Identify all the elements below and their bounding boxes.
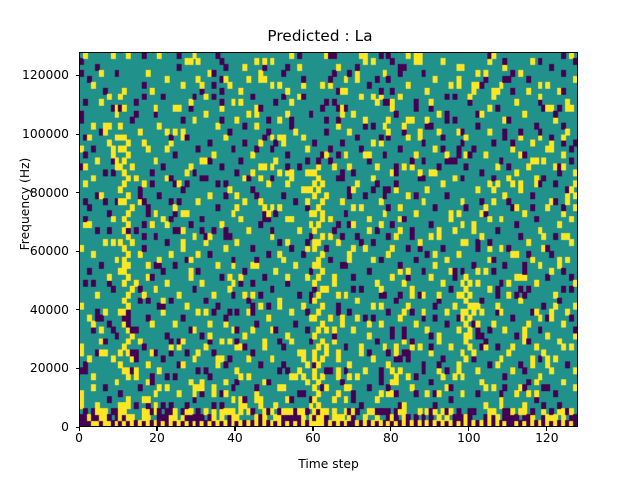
y-tick-label: 100000 bbox=[5, 128, 69, 140]
y-tick-label: 60000 bbox=[5, 245, 69, 257]
x-tick-mark bbox=[390, 427, 391, 431]
x-tick-mark bbox=[79, 427, 80, 431]
page-title: Predicted : La bbox=[0, 27, 640, 45]
x-tick-mark bbox=[468, 427, 469, 431]
y-tick-label: 40000 bbox=[5, 304, 69, 316]
y-tick-label: 80000 bbox=[5, 187, 69, 199]
x-tick-label: 100 bbox=[439, 432, 499, 444]
heatmap-axes bbox=[79, 52, 578, 427]
x-tick-mark bbox=[312, 427, 313, 431]
x-tick-label: 0 bbox=[49, 432, 109, 444]
spectrogram-heatmap bbox=[80, 53, 577, 426]
x-axis-label: Time step bbox=[79, 457, 578, 471]
y-axis-label: Frequency (Hz) bbox=[18, 4, 32, 404]
x-tick-label: 120 bbox=[517, 432, 577, 444]
matplotlib-figure: Predicted : La Frequency (Hz) 0200004000… bbox=[0, 0, 640, 480]
x-tick-mark bbox=[234, 427, 235, 431]
y-tick-label: 20000 bbox=[5, 362, 69, 374]
x-tick-label: 80 bbox=[361, 432, 421, 444]
x-tick-label: 40 bbox=[205, 432, 265, 444]
x-tick-mark bbox=[546, 427, 547, 431]
y-tick-label: 120000 bbox=[5, 69, 69, 81]
x-tick-label: 60 bbox=[283, 432, 343, 444]
x-tick-mark bbox=[156, 427, 157, 431]
x-tick-label: 20 bbox=[127, 432, 187, 444]
